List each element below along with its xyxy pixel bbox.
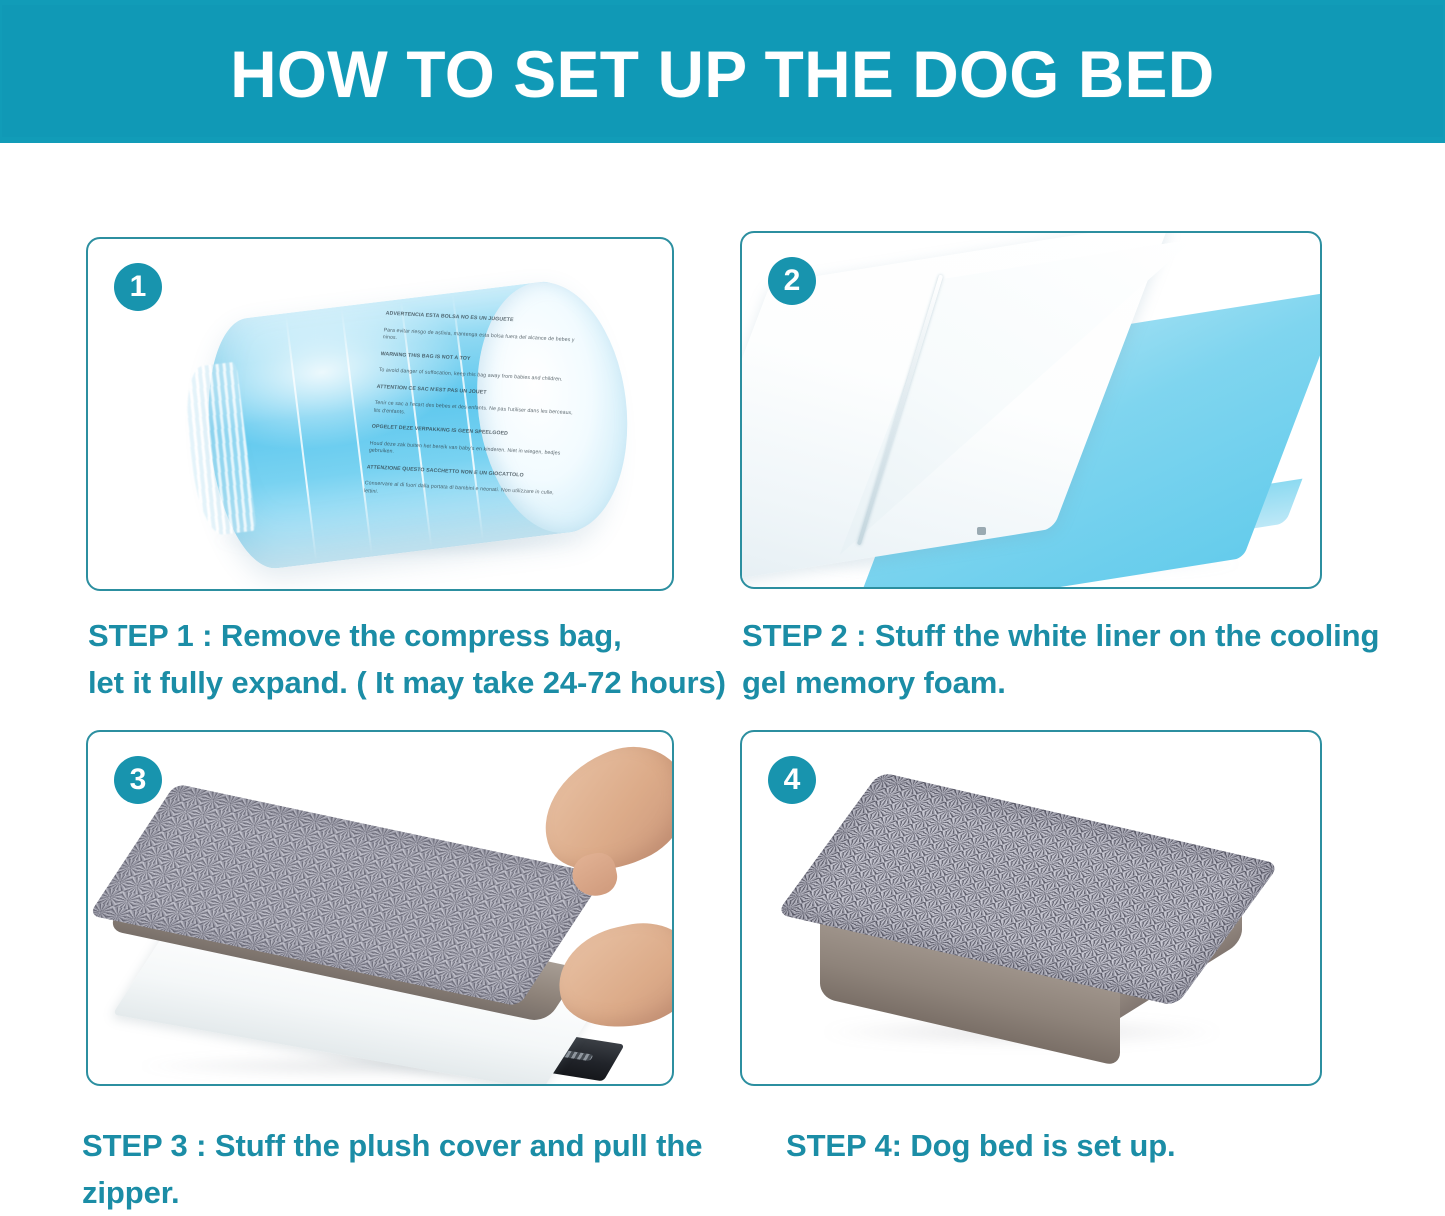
step-3-illustration bbox=[88, 732, 672, 1084]
step-caption-1: STEP 1 : Remove the compress bag, let it… bbox=[88, 612, 728, 706]
warning-line-es-body: Para evitar riesgo de asfixia, mantenga … bbox=[382, 327, 584, 352]
step-panel-1: ADVERTENCIA ESTA BOLSA NO ES UN JUGUETE … bbox=[86, 237, 674, 591]
step-2-illustration bbox=[742, 233, 1320, 587]
step-number-badge-2: 2 bbox=[768, 257, 816, 305]
warning-line-fr-body: Tenir ce sac a l'ecart des bebes et des … bbox=[373, 400, 575, 425]
compressed-roll: ADVERTENCIA ESTA BOLSA NO ES UN JUGUETE … bbox=[163, 254, 656, 589]
warning-line-en-body: To avoid danger of suffocation, keep thi… bbox=[378, 367, 579, 385]
warning-line-it-body: Conservare al di fuori dalla portata di … bbox=[363, 481, 565, 506]
liner-zipper-pull bbox=[977, 527, 986, 535]
step-number-badge-4: 4 bbox=[768, 756, 816, 804]
warning-line-it-title: ATTENZIONE QUESTO SACCHETTO NON E UN GIO… bbox=[366, 464, 567, 482]
step-caption-3: STEP 3 : Stuff the plush cover and pull … bbox=[82, 1122, 782, 1216]
header-banner: HOW TO SET UP THE DOG BED bbox=[0, 0, 1445, 143]
warning-line-en-title: WARNING THIS BAG IS NOT A TOY bbox=[380, 351, 581, 369]
page-title: HOW TO SET UP THE DOG BED bbox=[230, 41, 1214, 107]
step-number-badge-1: 1 bbox=[114, 263, 162, 311]
step-4-illustration bbox=[742, 732, 1320, 1084]
step-caption-2: STEP 2 : Stuff the white liner on the co… bbox=[742, 612, 1382, 706]
step-1-illustration: ADVERTENCIA ESTA BOLSA NO ES UN JUGUETE … bbox=[88, 239, 672, 589]
warning-line-fr-title: ATTENTION CE SAC N'EST PAS UN JOUET bbox=[376, 384, 577, 402]
compression-bag-warning-label: ADVERTENCIA ESTA BOLSA NO ES UN JUGUETE … bbox=[362, 311, 586, 515]
step-panel-2: 2 bbox=[740, 231, 1322, 589]
warning-line-nl-body: Houd deze zak buiten het bereik van baby… bbox=[368, 440, 570, 465]
step-caption-4: STEP 4: Dog bed is set up. bbox=[786, 1122, 1346, 1169]
step-number-badge-3: 3 bbox=[114, 756, 162, 804]
warning-line-nl-title: OPGELET DEZE VERPAKKING IS GEEN SPEELGOE… bbox=[371, 424, 572, 442]
step-panel-4: 4 bbox=[740, 730, 1322, 1086]
step-panel-3: 3 bbox=[86, 730, 674, 1086]
